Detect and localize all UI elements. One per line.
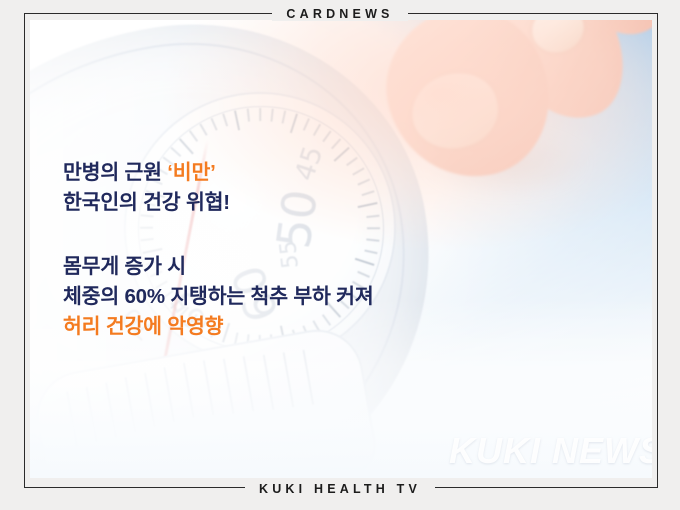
headline-block-2: 몸무게 증가 시 체중의 60% 지탱하는 척추 부하 커져 허리 건강에 악영…: [63, 252, 374, 342]
kuki-news-watermark: KUKI NEWS: [449, 430, 652, 472]
headline-copy: 만병의 근원 ‘비만’ 한국인의 건강 위협! 몸무게 증가 시 체중의 60%…: [63, 158, 374, 342]
cardnews-card: 455055606570 KUKI NEWS 만병의 근원 ‘비만’ 한국인의 …: [0, 0, 680, 510]
headline-line-2: 한국인의 건강 위협!: [63, 188, 374, 218]
headline-line-1-prefix: 만병의 근원: [63, 161, 167, 184]
headline-line-5: 허리 건강에 악영향: [63, 312, 374, 342]
headline-line-1: 만병의 근원 ‘비만’: [63, 158, 374, 188]
headline-line-3: 몸무게 증가 시: [63, 252, 374, 282]
headline-line-4: 체중의 60% 지탱하는 척추 부하 커져: [63, 282, 374, 312]
headline-line-1-highlight: ‘비만’: [167, 161, 215, 184]
